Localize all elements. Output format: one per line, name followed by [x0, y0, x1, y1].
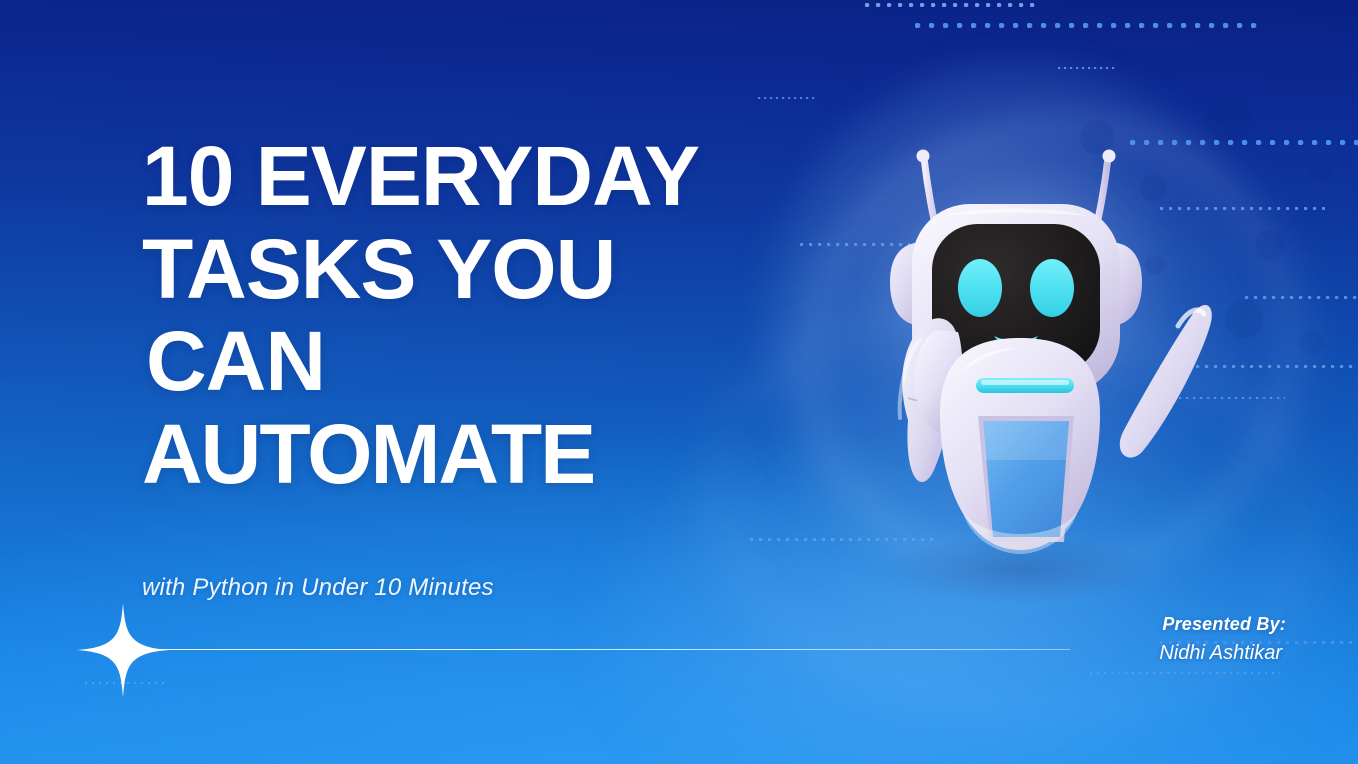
title-line-3: CAN — [142, 321, 842, 402]
arm-right-raised — [1120, 305, 1212, 458]
four-point-star-icon — [76, 603, 170, 697]
dotted-line — [915, 23, 1262, 28]
eye-right — [1030, 259, 1074, 317]
eye-left — [958, 259, 1002, 317]
presenter-block: Presented By: Nidhi Ashtikar — [1159, 614, 1286, 665]
dotted-line — [1090, 672, 1280, 674]
presentation-slide: 10 EVERYDAY TASKS YOU CAN AUTOMATE with … — [0, 0, 1358, 764]
title-line-1: 10 EVERYDAY — [142, 136, 842, 217]
dotted-line — [85, 682, 165, 684]
dotted-line — [865, 3, 1039, 7]
dotted-line — [1245, 296, 1358, 299]
title-line-4: AUTOMATE — [142, 414, 842, 495]
dotted-line — [1058, 67, 1116, 69]
bokeh-circle — [1255, 230, 1285, 260]
divider-line — [160, 649, 1070, 650]
robot-mascot-illustration — [812, 130, 1232, 600]
dotted-line — [758, 97, 816, 99]
bokeh-circle — [1265, 60, 1293, 88]
chest-panel-gloss — [983, 421, 1069, 460]
slide-title: 10 EVERYDAY TASKS YOU CAN AUTOMATE — [142, 136, 842, 495]
title-line-2: TASKS YOU — [142, 229, 842, 310]
slide-subtitle: with Python in Under 10 Minutes — [142, 574, 494, 602]
chest-light-bar-gloss — [981, 380, 1069, 385]
bokeh-circle — [1310, 160, 1332, 182]
presented-by-label: Presented By: — [1159, 614, 1286, 635]
bokeh-circle — [1300, 330, 1324, 354]
presenter-name: Nidhi Ashtikar — [1159, 642, 1282, 665]
